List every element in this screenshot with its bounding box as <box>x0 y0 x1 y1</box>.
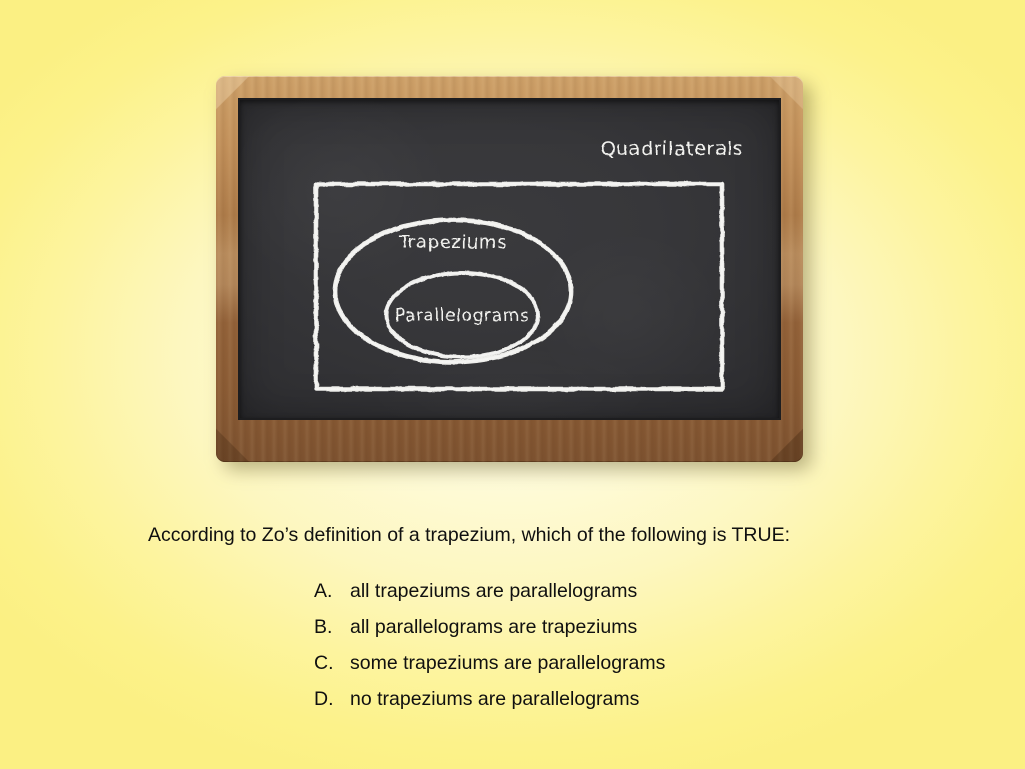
blackboard-figure: Quadrilaterals Trapeziums Parallelograms <box>216 76 803 462</box>
slide-canvas: Quadrilaterals Trapeziums Parallelograms… <box>0 0 1025 769</box>
option-text-a: all trapeziums are parallelograms <box>350 580 637 603</box>
option-letter-b: B. <box>314 616 350 639</box>
label-trapeziums: Trapeziums <box>398 232 507 253</box>
option-letter-d: D. <box>314 688 350 711</box>
option-letter-a: A. <box>314 580 350 603</box>
option-text-b: all parallelograms are trapeziums <box>350 616 637 639</box>
option-letter-c: C. <box>314 652 350 675</box>
label-parallelograms: Parallelograms <box>395 306 529 326</box>
answer-option-c[interactable]: C. some trapeziums are parallelograms <box>314 652 914 688</box>
option-text-d: no trapeziums are parallelograms <box>350 688 639 711</box>
answer-option-b[interactable]: B. all parallelograms are trapeziums <box>314 616 914 652</box>
set-diagram: Quadrilaterals Trapeziums Parallelograms <box>240 100 779 418</box>
frame-miter-bottom-right <box>769 428 803 462</box>
option-text-c: some trapeziums are parallelograms <box>350 652 665 675</box>
answer-option-a[interactable]: A. all trapeziums are parallelograms <box>314 580 914 616</box>
label-quadrilaterals: Quadrilaterals <box>601 138 744 160</box>
answer-options-list: A. all trapeziums are parallelograms B. … <box>314 580 914 724</box>
blackboard-slate-surface: Quadrilaterals Trapeziums Parallelograms <box>238 98 781 420</box>
frame-miter-bottom-left <box>216 428 250 462</box>
blackboard-wooden-frame: Quadrilaterals Trapeziums Parallelograms <box>216 76 803 462</box>
question-stem: According to Zo’s definition of a trapez… <box>148 524 790 547</box>
answer-option-d[interactable]: D. no trapeziums are parallelograms <box>314 688 914 724</box>
